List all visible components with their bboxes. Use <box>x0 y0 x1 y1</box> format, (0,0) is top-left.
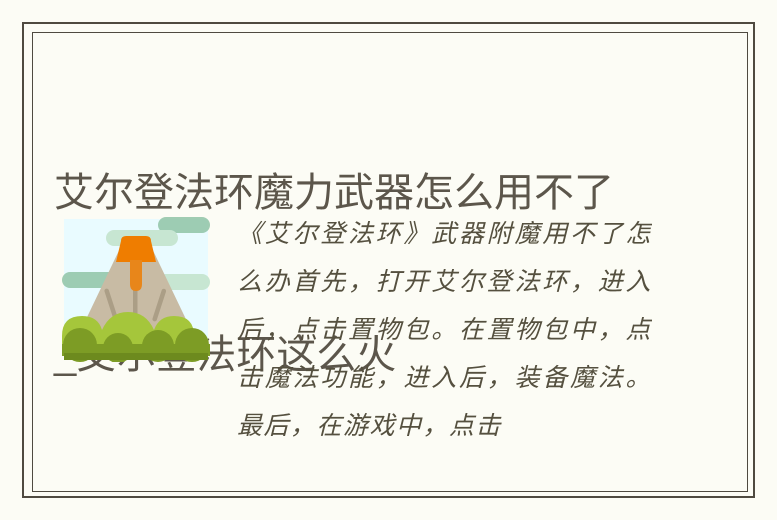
article-body: 《艾尔登法环》武器附魔用不了怎么办首先，打开艾尔登法环，进入后，点击置物包。在置… <box>237 210 652 450</box>
lava-drip <box>130 260 142 291</box>
volcano-crater <box>116 236 156 262</box>
article-card: 艾尔登法环魔力武器怎么用不了 _艾尔登法环这么火 <box>0 0 777 520</box>
content-row: 《艾尔登法环》武器附魔用不了怎么办首先，打开艾尔登法环，进入后，点击置物包。在置… <box>54 205 714 465</box>
volcano-illustration <box>62 212 210 362</box>
ground-strip <box>64 353 208 360</box>
